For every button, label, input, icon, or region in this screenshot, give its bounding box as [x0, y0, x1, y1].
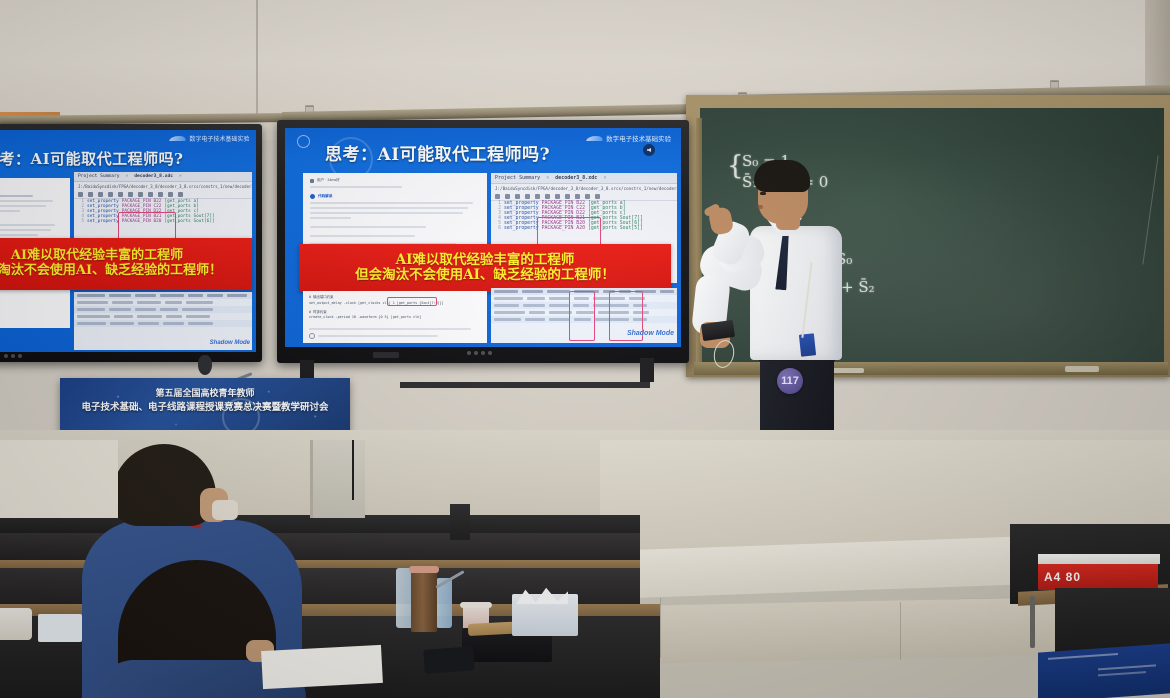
riser-seam	[660, 598, 661, 658]
code-file-path: J:/BaiduSyncdisk/FPGA/decoder_3_8/decode…	[74, 182, 252, 191]
red-banner-main: AI难以取代经验丰富的工程师 但会淘汰不会使用AI、缺乏经验的工程师！	[299, 244, 671, 292]
code-toolbar[interactable]	[491, 193, 677, 201]
slide-main: 数字电子技术基础实验 思考：AI可能取代工程师吗? 用户 · 34ms好	[285, 128, 681, 347]
blue-monitor-sign	[1038, 643, 1170, 698]
save-icon[interactable]	[505, 194, 510, 199]
search-icon[interactable]	[309, 333, 315, 339]
slide-left: 数字电子技术基础实验 思考：AI可能取代工程师吗?	[0, 130, 256, 352]
red-banner-line1: AI难以取代经验丰富的工程师	[11, 249, 183, 264]
logo-text: 数字电子技术基础实验	[606, 133, 671, 143]
swoosh-icon	[170, 136, 188, 141]
red-banner-line2: 但会淘汰不会使用AI、缺乏经验的工程师！	[0, 264, 222, 279]
edit-icon[interactable]	[158, 192, 163, 197]
table-row	[491, 295, 677, 302]
red-banner-left: AI难以取代经验丰富的工程师 但会淘汰不会使用AI、缺乏经验的工程师！	[0, 238, 252, 290]
power-button[interactable]	[4, 354, 8, 358]
thermos-lid	[409, 566, 439, 573]
undo-icon[interactable]	[98, 192, 103, 197]
edit-icon[interactable]	[575, 194, 580, 199]
slide-corner-badge-icon	[297, 135, 310, 148]
search-icon[interactable]	[495, 194, 500, 199]
red-banner-line1: AI难以取代经验丰富的工程师	[396, 253, 575, 268]
side-wall	[0, 440, 118, 518]
paper-stack	[1038, 554, 1160, 564]
red-banner-line2: 但会淘汰不会使用AI、缺乏经验的工程师！	[355, 268, 615, 283]
slide-left-logo: 数字电子技术基础实验	[170, 134, 249, 143]
paper-box-label: A4 80	[1044, 570, 1081, 584]
grid-icon[interactable]	[168, 192, 173, 197]
whiteboard-side	[313, 440, 365, 518]
display-left-screen[interactable]: 数字电子技术基础实验 思考：AI可能取代工程师吗?	[0, 130, 256, 352]
lecture-hall-photo: { S₀ = 1 S̄₁ + S̄₂ = 0 Y W { S₀ S̄₁ + S̄…	[0, 0, 1170, 698]
presenter-mouth	[756, 205, 763, 209]
chalk-tray-bracket	[1065, 366, 1099, 372]
monitor-text-line	[1098, 664, 1156, 670]
logo-text: 数字电子技术基础实验	[189, 134, 249, 143]
display-left-bezel: 数字电子技术基础实验 思考：AI可能取代工程师吗?	[0, 124, 262, 362]
doc-heading-1: 用户 · 34ms好	[317, 178, 340, 183]
table-row	[491, 316, 677, 323]
user-icon	[310, 179, 314, 183]
desk-hook	[1030, 596, 1035, 648]
paper-box: A4 80	[1038, 562, 1158, 590]
small-box	[38, 614, 82, 642]
podium-line-1: 第五届全国高校青年教师	[60, 388, 350, 401]
display-left-buttons[interactable]	[4, 354, 22, 358]
save-icon[interactable]	[88, 192, 93, 197]
paste-icon[interactable]	[555, 194, 560, 199]
hanging-cable	[352, 440, 354, 500]
presenter-shirt	[750, 226, 842, 360]
ai-avatar-icon	[310, 194, 315, 199]
table-panel-main[interactable]: Shadow Mode	[491, 288, 677, 343]
code-tab-summary[interactable]: Project Summary	[78, 174, 120, 179]
bulb-icon[interactable]	[595, 194, 600, 199]
microphone-head	[198, 355, 212, 375]
code-file-path: J:/BaiduSyncdisk/FPGA/decoder_3_8/decode…	[491, 184, 677, 193]
table-row	[491, 309, 677, 316]
doc-heading-2: 代码解读	[318, 194, 332, 199]
display-main-screen[interactable]: 数字电子技术基础实验 思考：AI可能取代工程师吗? 用户 · 34ms好	[285, 128, 681, 347]
code-row: 6set_propertyPACKAGE_PIN A20[get_ports S…	[491, 226, 677, 231]
copy-icon[interactable]	[128, 192, 133, 197]
menu-button[interactable]	[474, 351, 478, 355]
smartphone[interactable]	[423, 646, 475, 673]
swoosh-icon	[586, 136, 604, 141]
code-lines-main: 1set_propertyPACKAGE_PIN B22[get_ports a…	[491, 201, 677, 231]
monitor-text-line	[1098, 671, 1146, 676]
undo-icon[interactable]	[515, 194, 520, 199]
redo-icon[interactable]	[108, 192, 113, 197]
shadow-mode-watermark: Shadow Mode	[210, 340, 250, 346]
code-tab-xdc[interactable]: decoder3_8.xdc	[555, 175, 597, 181]
table-row	[491, 302, 677, 309]
podium-text: 第五届全国高校青年教师 电子技术基础、电子线路课程授课竞赛总决赛暨教学研讨会	[60, 388, 350, 415]
code-toolbar[interactable]	[74, 191, 252, 199]
presenter-hair	[754, 160, 810, 192]
slide-main-title: 思考：AI可能取代工程师吗?	[325, 140, 550, 165]
audience-paper	[261, 645, 383, 689]
code-tab-summary[interactable]: Project Summary	[495, 175, 540, 181]
thermos	[411, 570, 437, 632]
monitor-text-line	[1048, 653, 1118, 660]
volume-button[interactable]	[488, 351, 492, 355]
cut-icon[interactable]	[535, 194, 540, 199]
paper-cup	[0, 608, 32, 640]
table-header-row	[491, 288, 677, 295]
desk-divider	[450, 504, 470, 540]
copy-icon[interactable]	[545, 194, 550, 199]
grid-icon[interactable]	[585, 194, 590, 199]
source-button[interactable]	[481, 351, 485, 355]
code-lines-left: 1set_propertyPACKAGE_PIN B22[get_ports a…	[74, 199, 252, 224]
display-main-bezel: 数字电子技术基础实验 思考：AI可能取代工程师吗? 用户 · 34ms好	[277, 120, 689, 363]
code-tab-xdc[interactable]: decoder3_8.xdc	[134, 174, 173, 179]
riser-seam	[900, 602, 901, 660]
slide-main-logo: 数字电子技术基础实验	[587, 133, 671, 143]
chalk-tray-bracket	[830, 368, 864, 373]
bulb-icon[interactable]	[178, 192, 183, 197]
speaker-icon[interactable]	[643, 144, 655, 156]
table-panel-left[interactable]: Shadow Mode	[74, 292, 252, 350]
podium-line-2: 电子技术基础、电子线路课程授课竞赛总决赛暨教学研讨会	[60, 401, 350, 415]
power-button[interactable]	[467, 351, 471, 355]
display-main-buttons[interactable]	[467, 351, 492, 355]
slide-left-title: 思考：AI可能取代工程师吗?	[0, 148, 183, 169]
cut-icon[interactable]	[118, 192, 123, 197]
presenter-eye	[760, 192, 766, 195]
search-icon[interactable]	[78, 192, 83, 197]
display-cross-brace	[400, 382, 650, 388]
close-icon[interactable]	[148, 192, 153, 197]
display-ir-sensor	[373, 352, 399, 358]
doc-panel-bottom[interactable]: # 输出端口约束 set_output_delay -clock [get_cl…	[303, 291, 487, 343]
redo-icon[interactable]	[525, 194, 530, 199]
display-leg	[640, 358, 654, 382]
audience-mask	[212, 500, 238, 520]
presenter-number-badge: 117	[777, 368, 803, 394]
menu-button[interactable]	[11, 354, 15, 358]
wall-seam	[256, 0, 258, 118]
bottom-code-line-4: create_clock -period 10 -waveform {0 5} …	[309, 315, 481, 321]
source-button[interactable]	[18, 354, 22, 358]
cup-lid	[460, 602, 492, 608]
paste-icon[interactable]	[138, 192, 143, 197]
shadow-mode-watermark: Shadow Mode	[627, 330, 674, 337]
close-icon[interactable]	[565, 194, 570, 199]
